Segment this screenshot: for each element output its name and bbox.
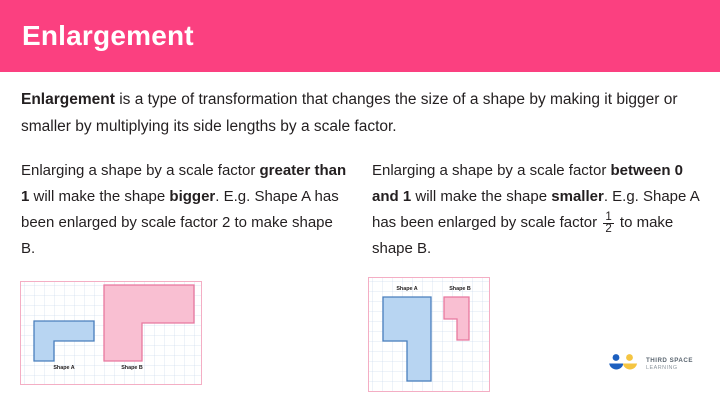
diagram-scale-factor-half: Shape A Shape B bbox=[368, 277, 490, 392]
right-shape-b bbox=[443, 296, 470, 341]
fraction-numerator: 1 bbox=[603, 212, 613, 223]
third-space-learning-mark-icon bbox=[607, 352, 641, 376]
intro-paragraph: Enlargement is a type of transformation … bbox=[21, 86, 701, 140]
col1-bold-bigger: bigger bbox=[169, 188, 215, 205]
column-between-zero-and-one: Enlarging a shape by a scale factor betw… bbox=[372, 158, 707, 262]
col2-line1: Enlarging a shape by a scale factor bbox=[372, 162, 606, 179]
col2-bold-smaller: smaller bbox=[551, 188, 604, 205]
col2-after-bold1: will make the shape bbox=[411, 188, 547, 205]
diagram-scale-factor-2: Shape A Shape B bbox=[20, 281, 202, 385]
page-title: Enlargement bbox=[22, 20, 194, 52]
col1-after-bold1: will make the shape bbox=[29, 188, 165, 205]
intro-bold-term: Enlargement bbox=[21, 91, 115, 108]
fraction-one-half: 12 bbox=[603, 212, 613, 235]
column-greater-than-one: Enlarging a shape by a scale factor grea… bbox=[21, 158, 351, 262]
left-shape-b bbox=[103, 284, 195, 362]
logo-line-2: LEARNING bbox=[646, 365, 693, 372]
left-shape-a bbox=[33, 320, 95, 362]
right-shape-a-label: Shape A bbox=[379, 286, 435, 292]
logo-wordmark: THIRD SPACE LEARNING bbox=[646, 357, 693, 372]
slide-header: Enlargement bbox=[0, 0, 720, 72]
logo-line-1: THIRD SPACE bbox=[646, 357, 693, 365]
intro-rest: is a type of transformation that changes… bbox=[21, 91, 678, 135]
col1-line1: Enlarging a shape by a scale factor bbox=[21, 162, 255, 179]
left-shape-b-label: Shape B bbox=[103, 365, 161, 371]
right-shape-b-label: Shape B bbox=[439, 286, 481, 292]
fraction-denominator: 2 bbox=[603, 223, 613, 235]
left-shape-a-label: Shape A bbox=[33, 365, 95, 371]
right-shape-a bbox=[382, 296, 432, 382]
brand-logo: THIRD SPACE LEARNING bbox=[607, 352, 693, 376]
